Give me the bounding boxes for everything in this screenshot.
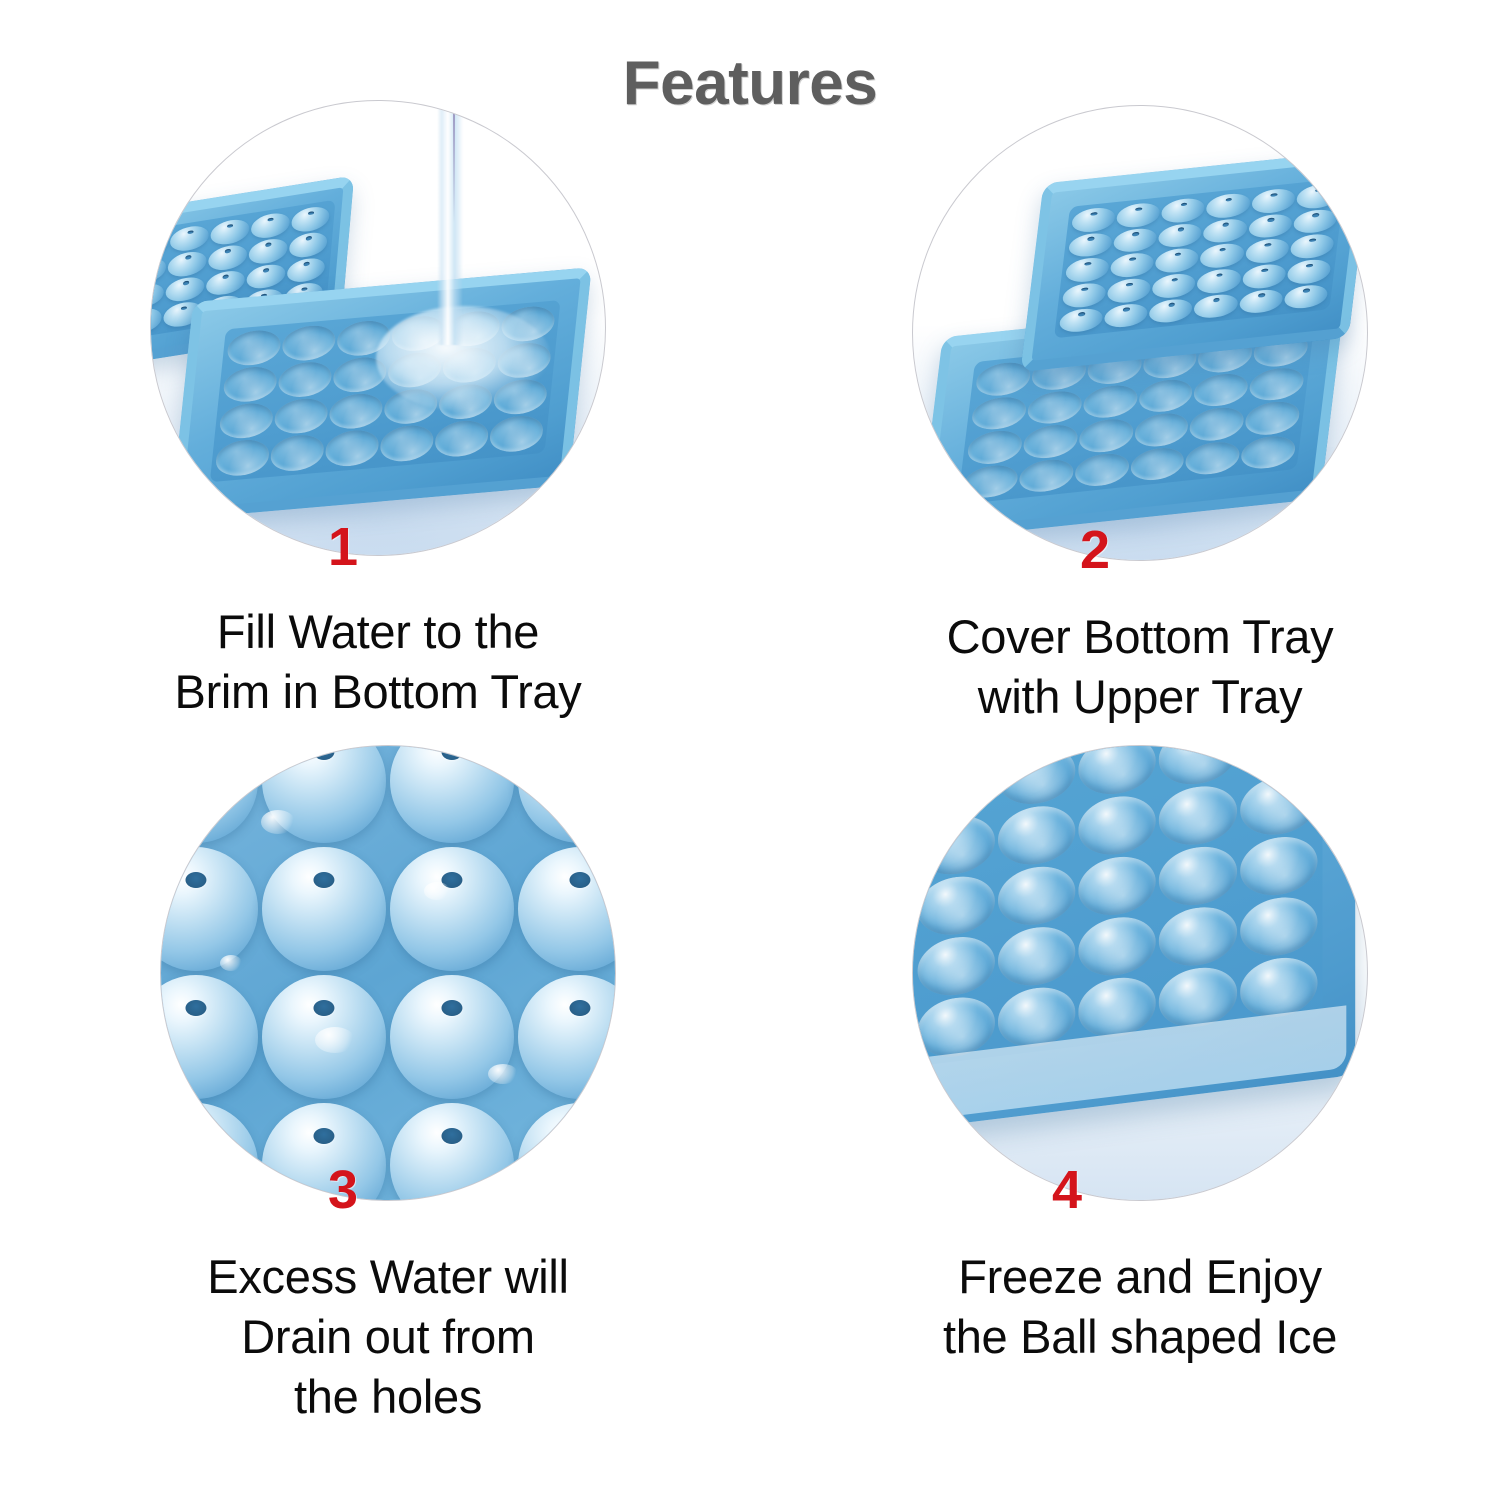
ice-ball bbox=[1078, 852, 1156, 919]
caption-line: the holes bbox=[38, 1367, 738, 1427]
ice-ball bbox=[1240, 893, 1318, 960]
dome-cell bbox=[390, 1103, 514, 1201]
step-4-caption: Freeze and Enjoy the Ball shaped Ice bbox=[790, 1247, 1490, 1367]
ice-ball bbox=[998, 923, 1076, 990]
water-splash bbox=[376, 306, 551, 411]
caption-line: Freeze and Enjoy bbox=[790, 1247, 1490, 1307]
step-card-3: 3 Excess Water will Drain out from the h… bbox=[38, 745, 738, 1427]
ice-ball bbox=[1159, 842, 1237, 909]
dome-cell bbox=[262, 847, 386, 971]
ice-ball bbox=[1078, 745, 1156, 798]
water-droplet bbox=[220, 955, 242, 971]
ice-ball bbox=[1240, 833, 1318, 900]
step-1-photo bbox=[150, 100, 606, 556]
ice-ball bbox=[998, 862, 1076, 929]
features-infographic: Features bbox=[0, 0, 1500, 1500]
ice-ball bbox=[1240, 772, 1318, 839]
ice-ball bbox=[998, 745, 1076, 808]
ice-ball bbox=[1159, 745, 1237, 788]
dome-cell bbox=[160, 847, 258, 971]
ice-ball bbox=[998, 802, 1076, 869]
step-4-photo-wrap: 4 bbox=[912, 745, 1368, 1201]
frozen-ice-balls-scene bbox=[913, 746, 1367, 1200]
dome-cell bbox=[160, 745, 258, 843]
step-card-1: 1 Fill Water to the Brim in Bottom Tray bbox=[28, 100, 728, 722]
dome-cell bbox=[518, 975, 616, 1099]
step-1-caption: Fill Water to the Brim in Bottom Tray bbox=[28, 602, 728, 722]
upper-tray-rim bbox=[1020, 149, 1368, 372]
dome-cell bbox=[390, 745, 514, 843]
dome-cell bbox=[390, 847, 514, 971]
dome-cell bbox=[518, 1103, 616, 1201]
ice-ball bbox=[917, 812, 995, 879]
caption-line: Excess Water will bbox=[38, 1247, 738, 1307]
ice-ball bbox=[917, 751, 995, 818]
water-droplet bbox=[261, 810, 295, 834]
step-number-badge: 1 bbox=[328, 520, 358, 574]
caption-line: Drain out from bbox=[38, 1307, 738, 1367]
step-1-photo-wrap: 1 bbox=[150, 100, 606, 556]
steps-grid: 1 Fill Water to the Brim in Bottom Tray bbox=[0, 0, 1500, 1500]
step-number-badge: 2 bbox=[1080, 523, 1110, 577]
dome-cell bbox=[518, 745, 616, 843]
ice-ball bbox=[1078, 913, 1156, 980]
ice-ball bbox=[917, 933, 995, 1000]
dome-cell bbox=[518, 847, 616, 971]
step-card-2: 2 Cover Bottom Tray with Upper Tray bbox=[790, 105, 1490, 727]
step-2-photo-wrap: 2 bbox=[912, 105, 1368, 561]
ice-ball bbox=[1240, 745, 1318, 778]
caption-line: Fill Water to the bbox=[28, 602, 728, 662]
ice-ball bbox=[1078, 792, 1156, 859]
dome-cell bbox=[262, 1103, 386, 1201]
step-card-4: 4 Freeze and Enjoy the Ball shaped Ice bbox=[790, 745, 1490, 1367]
macro-dome-grid bbox=[160, 745, 616, 1201]
ice-ball bbox=[917, 872, 995, 939]
fill-water-scene bbox=[151, 101, 605, 555]
step-number-badge: 3 bbox=[328, 1163, 358, 1217]
frozen-tray bbox=[912, 745, 1355, 1132]
step-2-caption: Cover Bottom Tray with Upper Tray bbox=[790, 607, 1490, 727]
caption-line: the Ball shaped Ice bbox=[790, 1307, 1490, 1367]
water-droplet bbox=[488, 1064, 518, 1084]
caption-line: with Upper Tray bbox=[790, 667, 1490, 727]
ice-ball bbox=[1159, 782, 1237, 849]
dome-cell bbox=[160, 1103, 258, 1201]
step-3-photo-wrap: 3 bbox=[160, 745, 616, 1201]
caption-line: Cover Bottom Tray bbox=[790, 607, 1490, 667]
step-4-photo bbox=[912, 745, 1368, 1201]
ice-ball bbox=[1159, 903, 1237, 970]
cover-tray-scene bbox=[913, 106, 1367, 560]
step-2-photo bbox=[912, 105, 1368, 561]
water-stream bbox=[437, 100, 463, 345]
step-3-caption: Excess Water will Drain out from the hol… bbox=[38, 1247, 738, 1427]
drain-holes-macro-scene bbox=[161, 746, 615, 1200]
step-number-badge: 4 bbox=[1052, 1163, 1082, 1217]
caption-line: Brim in Bottom Tray bbox=[28, 662, 728, 722]
dome-cell bbox=[160, 975, 258, 1099]
water-stream-highlight bbox=[453, 100, 455, 223]
step-3-photo bbox=[160, 745, 616, 1201]
upper-tray bbox=[1020, 149, 1368, 372]
